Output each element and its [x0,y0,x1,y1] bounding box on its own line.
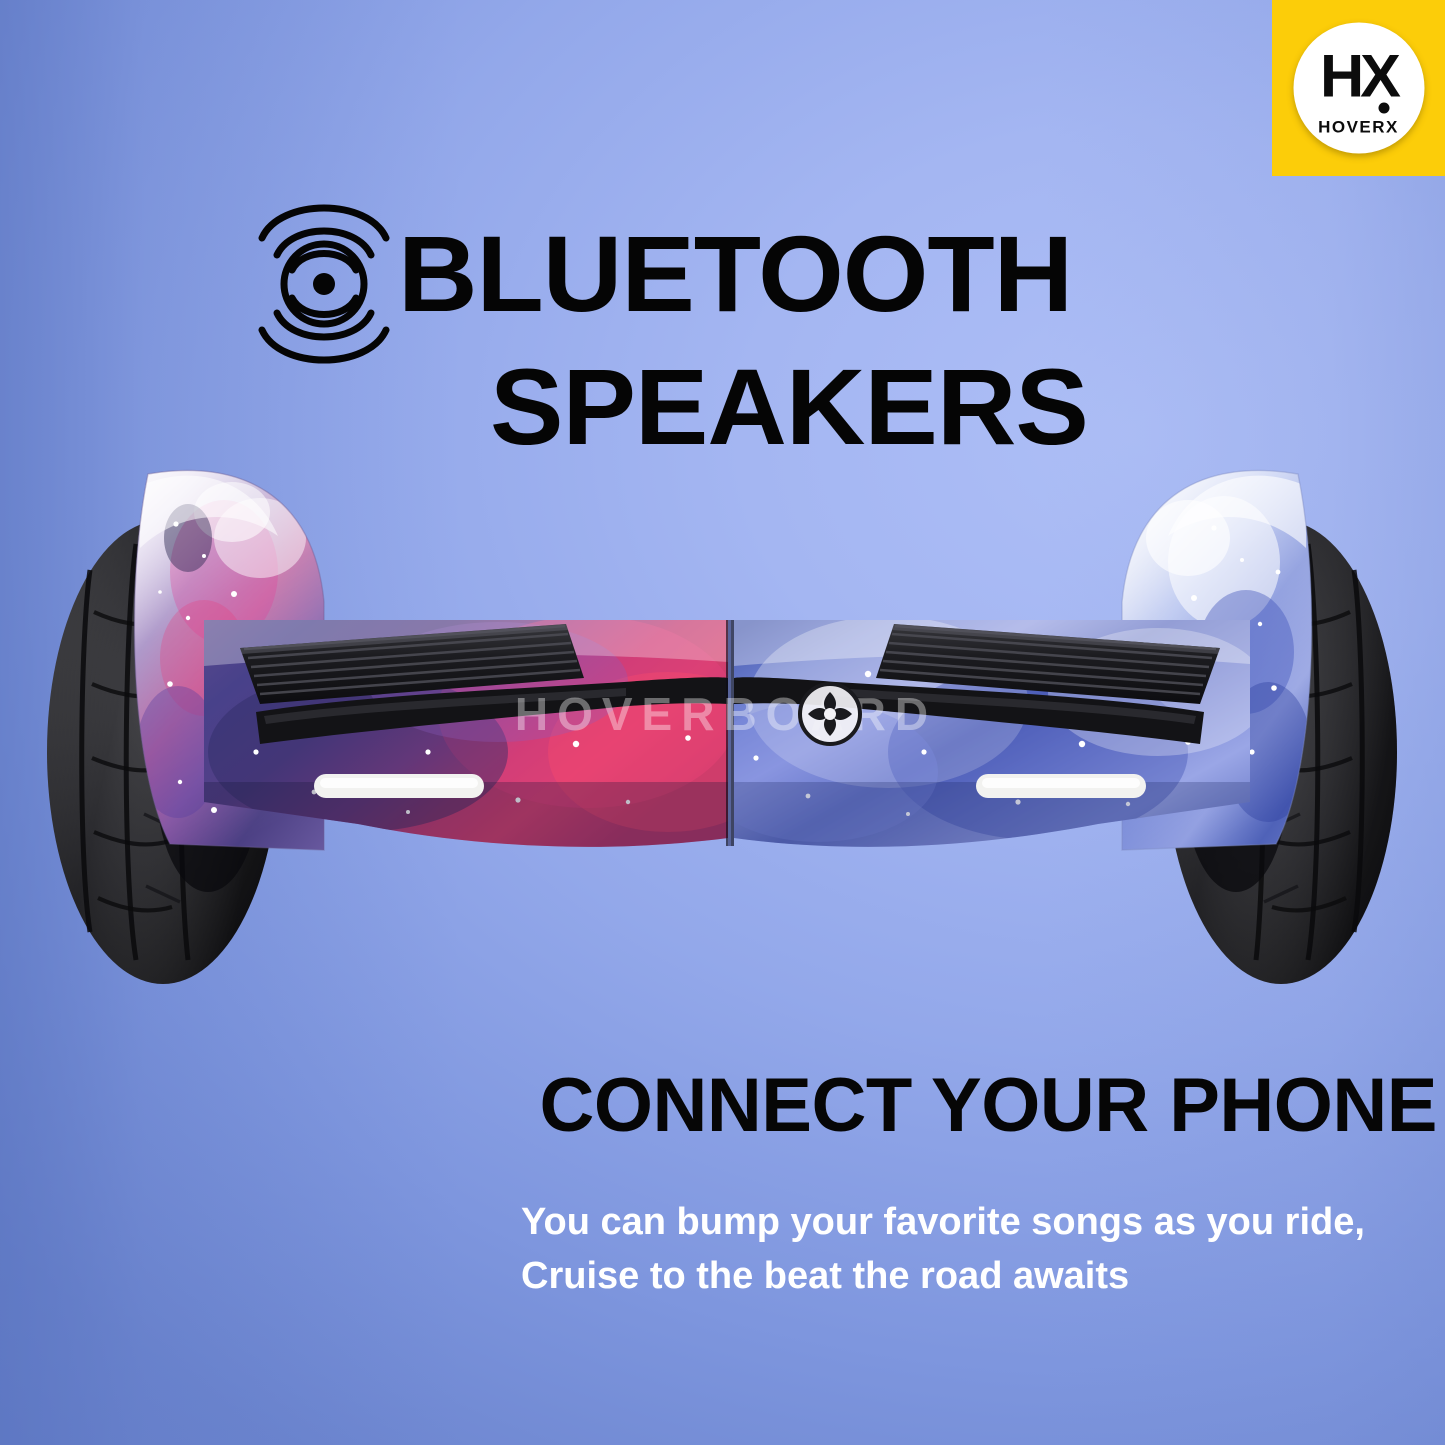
logo-circle: HX HOVERX [1293,23,1424,154]
poster-canvas: HOVERBOARD HX HOVERX [0,0,1445,1445]
body-copy-line-2: Cruise to the beat the road awaits [521,1250,1426,1304]
product-image-hoverboard: HOVERBOARD [28,452,1418,1032]
logo-monogram: HX [1310,46,1408,108]
hoverx-logo-badge[interactable]: HX HOVERX [1272,0,1445,176]
logo-dot [1379,102,1390,113]
body-copy: You can bump your favorite songs as you … [521,1196,1426,1304]
headline-line-2: SPEAKERS [490,357,1110,456]
logo-mark: HX HOVERX [1311,44,1407,132]
logo-wordmark: HOVERX [1311,118,1407,135]
body-copy-line-1: You can bump your favorite songs as you … [521,1196,1426,1250]
product-brand-text: HOVERBOARD [515,688,937,740]
headline-block: BLUETOOTH SPEAKERS [398,224,1098,457]
subheadline: CONNECT YOUR PHONE [540,1068,1437,1144]
headline-line-1: BLUETOOTH [398,224,1112,323]
bluetooth-sound-waves-icon [244,176,404,392]
power-fan-button-icon [800,684,860,744]
